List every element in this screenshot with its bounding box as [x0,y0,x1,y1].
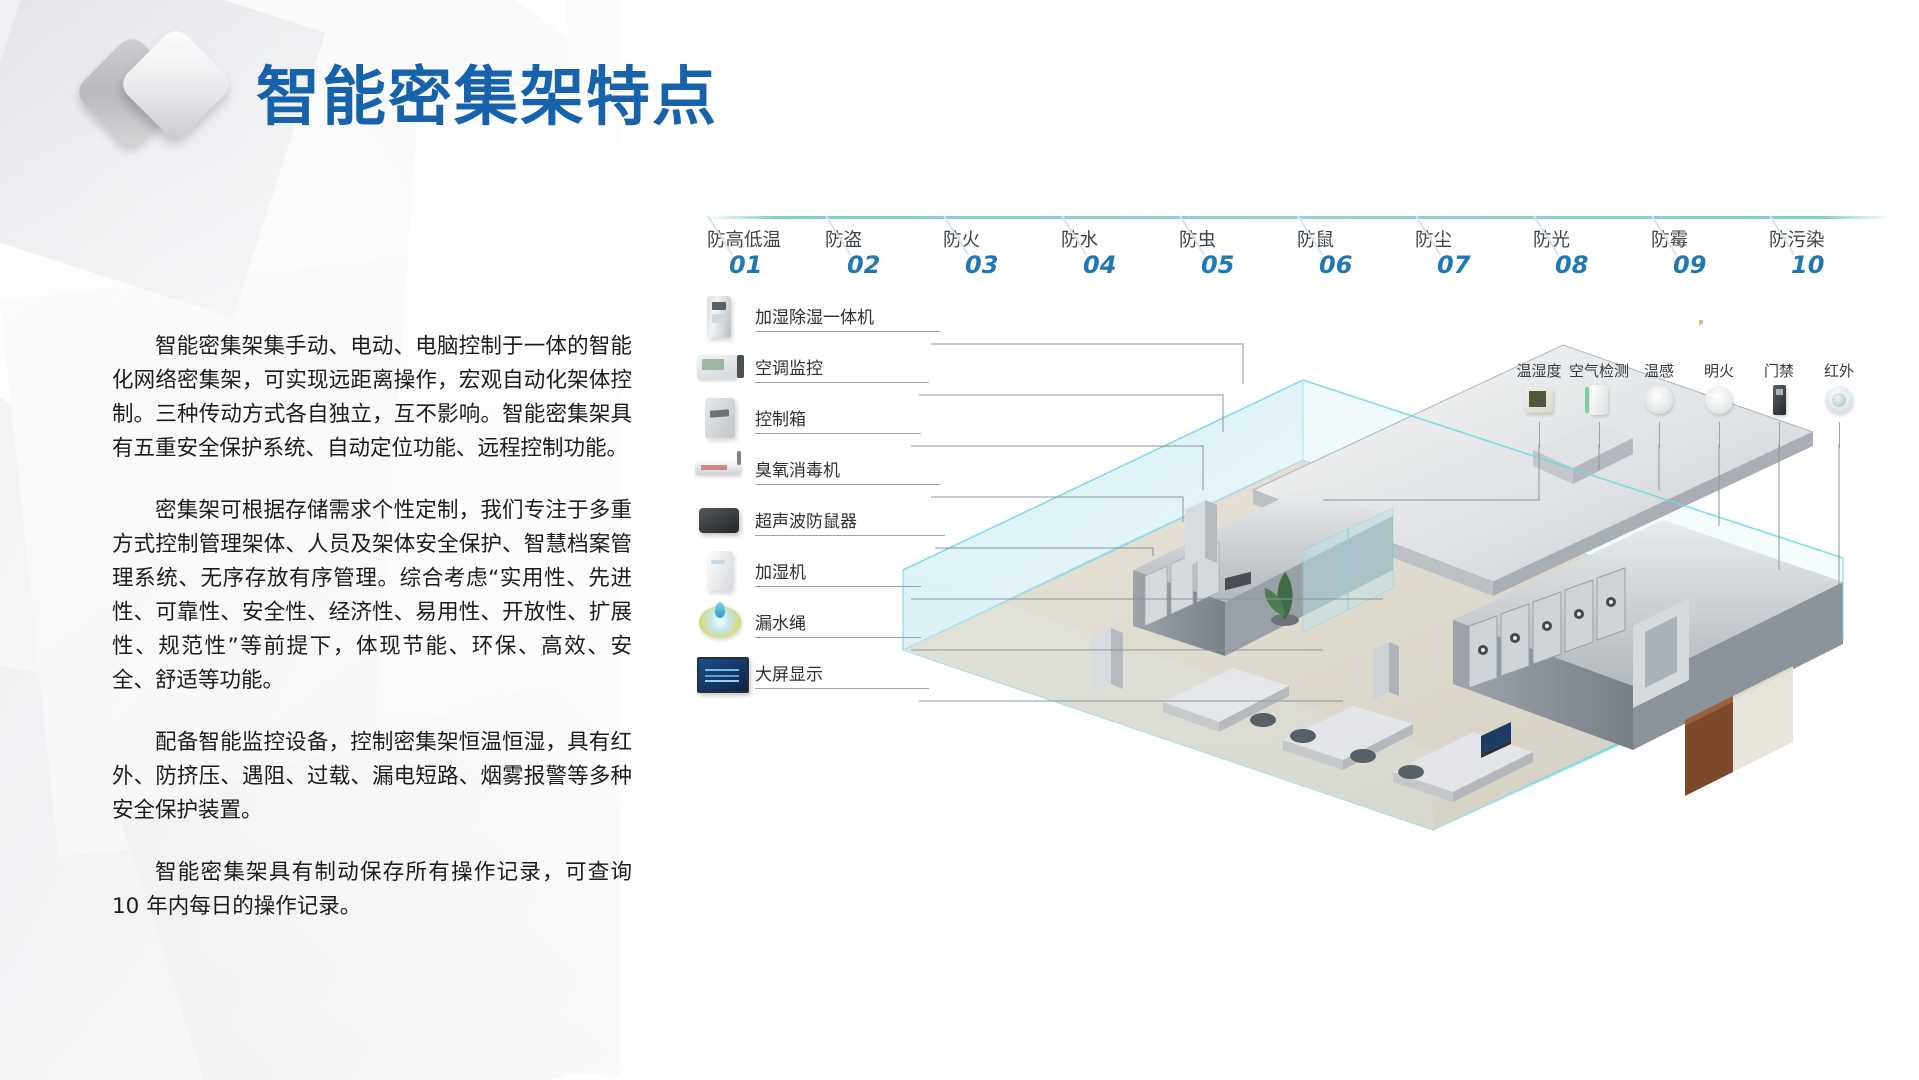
device-label: 大屏显示 [751,660,823,685]
sensor-leader-line [1719,422,1720,448]
protection-feature-03: 防火03 [943,230,998,278]
protection-feature-label: 防霉 [1651,230,1706,252]
body-copy: 智能密集架集手动、电动、电脑控制于一体的智能化网络密集架，可实现远距离操作，宏观… [112,330,632,952]
sensor-leader-line [1659,422,1660,448]
paragraph-3: 配备智能监控设备，控制密集架恒温恒湿，具有红外、防挤压、遇阻、过载、漏电短路、烟… [112,726,632,828]
protection-feature-number: 06 [1297,252,1352,278]
device-leader-line [755,484,941,485]
device-label: 加湿除湿一体机 [751,303,874,328]
protection-feature-04: 防水04 [1061,230,1116,278]
protection-feature-number: 09 [1651,252,1706,278]
device-callout: 加湿除湿一体机 [693,290,923,341]
device-callout-list: 加湿除湿一体机空调监控控制箱臭氧消毒机超声波防鼠器加湿机漏水绳大屏显示 [693,290,923,698]
protection-feature-number: 04 [1061,252,1116,278]
protection-feature-number: 07 [1415,252,1470,278]
protection-feature-number: 02 [825,252,880,278]
protection-feature-01: 防高低温01 [707,230,781,278]
protection-feature-number: 03 [943,252,998,278]
protection-feature-06: 防鼠06 [1297,230,1352,278]
sensor-label: 门禁 [1749,360,1809,381]
sensor-leader-line [1779,422,1780,448]
device-label: 臭氧消毒机 [751,456,840,481]
paragraph-1: 智能密集架集手动、电动、电脑控制于一体的智能化网络密集架，可实现远距离操作，宏观… [112,330,632,466]
air-quality-sensor-icon [1582,385,1616,415]
sensor-callout: 温感 [1629,360,1689,444]
protection-feature-label: 防污染 [1769,230,1825,252]
control-box-icon [693,396,751,440]
device-leader-line [755,433,921,434]
device-callout: 臭氧消毒机 [693,443,923,494]
device-callout: 空调监控 [693,341,923,392]
temperature-humidity-sensor-icon [1522,385,1556,415]
device-callout: 控制箱 [693,392,923,443]
flame-detector-icon [1702,385,1736,415]
protection-feature-label: 防光 [1533,230,1588,252]
device-callout: 大屏显示 [693,647,923,698]
device-leader-line [755,382,929,383]
sensor-callout: 空气检测 [1569,360,1629,444]
water-leak-rope-icon [693,600,751,644]
heat-detector-icon [1642,385,1676,415]
protection-feature-number: 10 [1769,252,1825,278]
paragraph-4: 智能密集架具有制动保存所有操作记录，可查询 10 年内每日的操作记录。 [112,856,632,924]
protection-feature-label: 防火 [943,230,998,252]
protection-feature-label: 防水 [1061,230,1116,252]
device-leader-line [755,535,945,536]
device-label: 超声波防鼠器 [751,507,857,532]
ozone-sterilizer-icon [693,447,751,491]
sensor-label: 温湿度 [1509,360,1569,381]
humidifier-icon [693,549,751,593]
protection-feature-label: 防尘 [1415,230,1470,252]
protection-feature-label: 防鼠 [1297,230,1352,252]
ac-monitor-icon [693,345,751,389]
device-label: 控制箱 [751,405,806,430]
double-diamond-logo [86,36,246,156]
smart-archive-room-illustration: 防高低温01防盗02防火03防水04防虫05防鼠06防尘07防光08防霉09防污… [683,170,1911,850]
access-control-icon [1762,385,1796,415]
sensor-leader-line [1599,422,1600,448]
sensor-callout: 明火 [1689,360,1749,444]
device-callout: 超声波防鼠器 [693,494,923,545]
sensor-leader-line [1839,422,1840,448]
protection-feature-number: 08 [1533,252,1588,278]
protection-feature-09: 防霉09 [1651,230,1706,278]
protection-feature-label: 防虫 [1179,230,1234,252]
sensor-leader-line [1539,422,1540,448]
device-callout: 漏水绳 [693,596,923,647]
protection-feature-10: 防污染10 [1769,230,1825,278]
protection-feature-08: 防光08 [1533,230,1588,278]
sensor-callout-list: 温湿度空气检测温感明火门禁红外 [1509,360,1869,444]
protection-feature-list: 防高低温01防盗02防火03防水04防虫05防鼠06防尘07防光08防霉09防污… [699,230,1895,290]
ultrasonic-rodent-repeller-icon [693,498,751,542]
protection-feature-02: 防盗02 [825,230,880,278]
device-callout: 加湿机 [693,545,923,596]
sensor-label: 空气检测 [1569,360,1629,381]
paragraph-2: 密集架可根据存储需求个性定制，我们专注于多重方式控制管理架体、人员及架体安全保护… [112,494,632,698]
sensor-label: 红外 [1809,360,1869,381]
dehumidifier-icon [693,294,751,338]
infrared-detector-icon [1822,385,1856,415]
protection-feature-05: 防虫05 [1179,230,1234,278]
page-title: 智能密集架特点 [256,46,718,138]
large-display-screen-icon [693,651,751,695]
protection-feature-number: 01 [707,252,781,278]
sensor-callout: 温湿度 [1509,360,1569,444]
protection-feature-label: 防盗 [825,230,880,252]
device-label: 漏水绳 [751,609,806,634]
protection-feature-number: 05 [1179,252,1234,278]
sensor-label: 温感 [1629,360,1689,381]
sensor-label: 明火 [1689,360,1749,381]
device-label: 加湿机 [751,558,806,583]
device-leader-line [755,586,921,587]
device-leader-line [755,331,941,332]
sensor-callout: 门禁 [1749,360,1809,444]
protection-feature-07: 防尘07 [1415,230,1470,278]
device-leader-line [755,637,921,638]
device-label: 空调监控 [751,354,823,379]
device-leader-line [755,688,929,689]
sensor-callout: 红外 [1809,360,1869,444]
